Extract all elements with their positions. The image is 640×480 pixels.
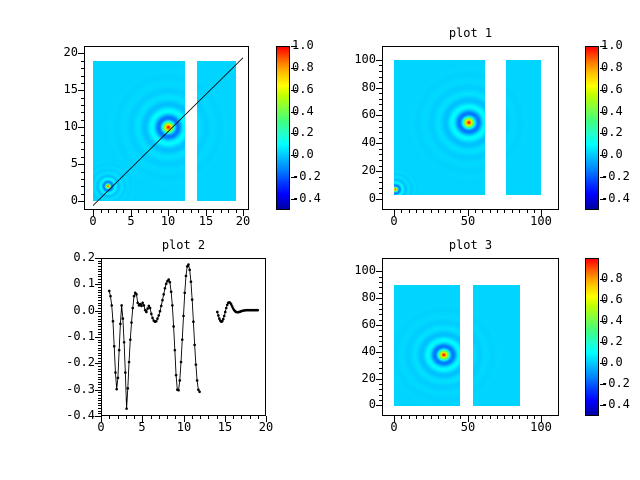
bottom-left-lineplot-xtick-minor [151,416,152,419]
data-point-marker [130,321,133,324]
data-point-marker [156,317,159,320]
bottom-left-lineplot-ytick-minor [98,303,101,304]
data-point-marker [122,317,125,320]
bottom-left-lineplot-ytick-minor [98,287,101,288]
bottom-right-heatmap-ytick-minor [379,320,382,321]
bottom-left-lineplot-xtick-minor [159,416,160,419]
bottom-left-lineplot-xtick-minor [258,416,259,419]
top-left-heatmap-ytick-minor [81,201,84,202]
data-point-marker [113,345,116,348]
bottom-right-heatmap-ytick-minor [379,395,382,396]
top-right-heatmap-ytick-minor [379,110,382,111]
top-left-heatmap-ytick-minor [81,68,84,69]
top-right-heatmap-xtick-minor [394,210,395,213]
top-right-heatmap-colorbar-ticklabel: 0.2 [601,125,640,139]
data-point-marker [256,309,259,312]
bottom-left-lineplot-ytick-minor [98,258,101,259]
bottom-left-lineplot-ytick-minor [98,371,101,372]
top-right-heatmap-xticklabel: 100 [515,214,567,228]
top-right-heatmap-xtick-minor [541,210,542,213]
top-right-heatmap-ytick-minor [379,160,382,161]
data-point-marker [181,338,184,341]
data-point-marker [191,298,194,301]
data-point-marker [118,349,121,352]
bottom-left-lineplot-xtick-minor [109,416,110,419]
bottom-right-heatmap-xtick-minor [541,416,542,419]
top-left-heatmap-xtick-minor [213,210,214,213]
data-point-marker [128,361,131,364]
data-point-marker [161,299,164,302]
bottom-left-lineplot-ytick-minor [98,266,101,267]
bottom-left-lineplot-ytick-minor [98,321,101,322]
data-point-marker [169,281,172,284]
bottom-left-lineplot-yticklabel: -0.2 [35,355,95,369]
bottom-right-heatmap-colorbar [585,258,599,416]
top-left-heatmap-ytick-minor [81,112,84,113]
top-right-heatmap-xticklabel: 50 [442,214,494,228]
top-right-heatmap-xtick-minor [431,210,432,213]
top-right-heatmap-ytick-minor [379,99,382,100]
bottom-right-heatmap-ytick-minor [379,346,382,347]
bottom-left-lineplot-xtick-minor [225,416,226,419]
bottom-right-heatmap-title: plot 3 [382,238,559,252]
bottom-left-lineplot-ytick-minor [98,340,101,341]
top-left-heatmap-xtick-minor [176,210,177,213]
top-right-heatmap-colorbar-ticklabel: 0.8 [601,60,640,74]
bottom-left-lineplot-ytick-minor [98,284,101,285]
top-right-heatmap-ytick-minor [379,71,382,72]
bottom-left-lineplot-ytick-minor [98,353,101,354]
bottom-left-lineplot-xtick-minor [208,416,209,419]
bottom-left-lineplot-ytick-minor [98,355,101,356]
bottom-left-lineplot-ytick-minor [98,390,101,391]
bottom-left-lineplot-ytick-minor [98,329,101,330]
bottom-right-heatmap-colorbar-ticklabel: -0.4 [601,397,640,411]
top-left-heatmap-colorbar [276,46,290,210]
bottom-right-heatmap-xtick-minor [497,416,498,419]
data-point-marker [136,301,139,304]
bottom-right-heatmap-yticklabel: 80 [316,290,376,304]
bottom-left-lineplot-xtick-minor [192,416,193,419]
data-point-marker [224,311,227,314]
top-right-heatmap-colorbar-ticklabel: 0.0 [601,147,640,161]
bottom-right-heatmap-ytick-minor [379,362,382,363]
data-point-marker [117,377,120,380]
heatmap-raster [506,60,541,195]
bottom-left-lineplot-ytick-minor [98,342,101,343]
data-point-marker [165,283,168,286]
top-left-heatmap-ytick-minor [81,127,84,128]
top-right-heatmap-xtick-minor [490,210,491,213]
bottom-left-lineplot-ytick-minor [98,276,101,277]
bottom-left-lineplot-ytick-minor [98,382,101,383]
data-point-marker [190,280,193,283]
bottom-left-lineplot-ytick-minor [98,263,101,264]
bottom-right-heatmap-ytick-minor [379,287,382,288]
bottom-right-heatmap-xtick-minor [445,416,446,419]
data-point-marker [175,374,178,377]
bottom-right-heatmap-xtick-minor [527,416,528,419]
top-left-heatmap-xtick-minor [131,210,132,213]
bottom-right-heatmap-xtick-minor [401,416,402,419]
data-point-marker [123,341,126,344]
bottom-left-lineplot-ytick-minor [98,405,101,406]
data-point-marker [178,379,181,382]
data-point-marker [167,278,170,281]
bottom-left-lineplot-ytick-minor [98,348,101,349]
top-right-heatmap-colorbar-ticklabel: -0.2 [601,169,640,183]
top-left-heatmap-xtick-minor [138,210,139,213]
data-point-marker [162,293,165,296]
data-point-marker [112,320,115,323]
top-left-heatmap-ytick-minor [81,135,84,136]
data-point-marker [150,313,153,316]
bottom-right-heatmap-xtick-minor [534,416,535,419]
top-right-heatmap-yticklabel: 80 [316,80,376,94]
top-right-heatmap-title: plot 1 [382,26,559,40]
top-left-heatmap-ytick-minor [81,90,84,91]
top-right-heatmap-xtick-minor [482,210,483,213]
data-point-marker [216,311,219,314]
top-right-heatmap-xtick-minor [475,210,476,213]
top-left-heatmap-xtick-minor [93,210,94,213]
bottom-left-lineplot-ytick-minor [98,400,101,401]
bottom-left-lineplot-ytick-minor [98,332,101,333]
top-right-heatmap-patch [394,60,485,195]
top-right-heatmap-xtick-minor [497,210,498,213]
top-left-heatmap-xtick-minor [108,210,109,213]
bottom-left-lineplot-xtick-minor [126,416,127,419]
top-right-heatmap-ytick-minor [379,199,382,200]
bottom-left-lineplot-ytick-minor [98,279,101,280]
top-left-heatmap-yticklabel: 5 [18,156,78,170]
bottom-left-lineplot-ytick-minor [98,345,101,346]
bottom-right-heatmap-ytick-minor [379,271,382,272]
top-left-heatmap-xtick-minor [228,210,229,213]
bottom-right-heatmap-xtick-minor [438,416,439,419]
bottom-left-lineplot-ytick-minor [98,361,101,362]
top-right-heatmap-yticklabel: 0 [316,191,376,205]
top-left-heatmap-xtick-minor [183,210,184,213]
bottom-right-heatmap-yticklabel: 100 [316,263,376,277]
top-right-heatmap-ytick-minor [379,121,382,122]
bottom-right-heatmap-yticklabel: 40 [316,344,376,358]
heatmap-raster [394,60,485,195]
top-left-heatmap-ytick-minor [81,149,84,150]
bottom-left-lineplot-yticklabel: 0.1 [35,276,95,290]
data-point-marker [159,310,162,313]
bottom-right-heatmap-ytick-minor [379,379,382,380]
top-right-heatmap-yticklabel: 100 [316,52,376,66]
data-point-marker [192,320,195,323]
bottom-right-heatmap-colorbar-ticklabel: -0.2 [601,376,640,390]
bottom-left-lineplot-xtick-minor [250,416,251,419]
top-right-heatmap-xtick-minor [460,210,461,213]
top-right-heatmap-xtick-minor [504,210,505,213]
top-right-heatmap-ytick-minor [379,166,382,167]
top-left-heatmap-ytick-minor [81,98,84,99]
bottom-left-lineplot-ytick-minor [98,313,101,314]
bottom-left-lineplot-xtick-minor [200,416,201,419]
top-right-heatmap-yticklabel: 60 [316,107,376,121]
top-left-heatmap-ytick-minor [81,61,84,62]
bottom-left-lineplot-xtick-minor [217,416,218,419]
bottom-left-lineplot-ytick-minor [98,366,101,367]
top-left-heatmap-ytick-minor [81,53,84,54]
top-left-heatmap-ytick-minor [81,172,84,173]
data-point-marker [171,304,174,307]
top-left-heatmap-xtick-minor [236,210,237,213]
bottom-right-heatmap-xtick-minor [453,416,454,419]
data-point-marker [157,314,160,317]
top-right-heatmap-ytick-minor [379,193,382,194]
bottom-left-lineplot-ytick-minor [98,334,101,335]
bottom-right-heatmap-colorbar-ticklabel: 0.2 [601,334,640,348]
data-point-marker [129,338,132,341]
top-left-heatmap-ytick-minor [81,120,84,121]
data-point-marker [177,389,180,392]
data-point-marker [124,371,127,374]
top-right-heatmap-xtick-minor [438,210,439,213]
bottom-left-lineplot-ytick-minor [98,297,101,298]
bottom-left-lineplot-xtick-minor [167,416,168,419]
top-right-heatmap-xtick-minor [445,210,446,213]
data-point-marker [110,304,113,307]
bottom-left-lineplot-ytick-minor [98,311,101,312]
data-point-marker [135,293,138,296]
bottom-left-lineplot-xtick-minor [134,416,135,419]
bottom-right-heatmap-patch [473,285,520,406]
bottom-left-lineplot-ytick-minor [98,290,101,291]
bottom-right-heatmap-ytick-minor [379,309,382,310]
heatmap-raster [394,285,460,406]
bottom-left-lineplot-xtick-minor [142,416,143,419]
data-point-marker [188,269,191,272]
bottom-left-lineplot-xtick-minor [118,416,119,419]
bottom-right-heatmap-yticklabel: 0 [316,397,376,411]
data-point-marker [160,305,163,308]
top-left-heatmap-diagonal-line [85,47,248,209]
top-right-heatmap-ytick-minor [379,88,382,89]
top-left-heatmap-xtick-minor [243,210,244,213]
top-left-heatmap-yticklabel: 15 [18,82,78,96]
bottom-left-lineplot-ytick-minor [98,379,101,380]
bottom-left-lineplot-ytick-minor [98,350,101,351]
top-left-heatmap-ytick-minor [81,105,84,106]
top-left-heatmap-colorbar-ticklabel: 0.0 [292,147,338,161]
bottom-right-heatmap-xtick-minor [475,416,476,419]
data-point-marker [127,387,130,390]
bottom-right-heatmap-yticklabel: 60 [316,317,376,331]
data-point-marker [195,363,198,366]
top-right-heatmap-xticklabel: 0 [368,214,420,228]
bottom-right-heatmap-ytick-minor [379,368,382,369]
data-point-marker [180,361,183,364]
bottom-right-heatmap-ytick-minor [379,293,382,294]
top-left-heatmap-xtick-minor [153,210,154,213]
bottom-right-heatmap-colorbar-ticklabel: 0.8 [601,271,640,285]
top-left-heatmap-ytick-minor [81,142,84,143]
top-left-heatmap-ytick-minor [81,76,84,77]
top-right-heatmap-ytick-minor [379,60,382,61]
top-right-heatmap-ytick-minor [379,65,382,66]
data-point-marker [217,314,220,317]
data-point-marker [170,290,173,293]
data-point-marker [109,295,112,298]
data-point-marker [143,304,146,307]
top-left-heatmap-xtick-minor [116,210,117,213]
bottom-left-lineplot-ytick-minor [98,411,101,412]
bottom-left-lineplot-ytick-minor [98,337,101,338]
bottom-left-lineplot-ytick-minor [98,292,101,293]
bottom-right-heatmap-xtick-minor [519,416,520,419]
top-left-heatmap-xtick-minor [221,210,222,213]
bottom-right-heatmap-ytick-minor [379,373,382,374]
top-left-heatmap-ytick-minor [81,164,84,165]
bottom-left-lineplot-yticklabel: -0.1 [35,329,95,343]
bottom-left-lineplot-ytick-minor [98,305,101,306]
bottom-right-heatmap-xtick-minor [416,416,417,419]
bottom-right-heatmap-xtick-minor [423,416,424,419]
bottom-right-heatmap-xtick-minor [460,416,461,419]
bottom-right-heatmap-ytick-minor [379,330,382,331]
top-left-heatmap-colorbar-ticklabel: 1.0 [292,38,338,52]
data-point-marker [187,263,190,266]
top-right-heatmap-xtick-minor [401,210,402,213]
bottom-left-lineplot-xtick-minor [266,416,267,419]
bottom-left-lineplot-ytick-minor [98,316,101,317]
top-left-heatmap-ytick-minor [81,157,84,158]
top-right-heatmap-ytick-minor [379,138,382,139]
top-right-heatmap-ytick-minor [379,154,382,155]
bottom-left-lineplot-xtick-minor [101,416,102,419]
top-right-heatmap-xtick-minor [534,210,535,213]
bottom-right-heatmap-ytick-minor [379,282,382,283]
bottom-right-heatmap-ytick-minor [379,357,382,358]
data-point-marker [146,307,149,310]
bottom-left-lineplot-xtick-minor [233,416,234,419]
top-left-heatmap-ytick-minor [81,186,84,187]
top-right-heatmap-ytick-minor [379,132,382,133]
bottom-right-heatmap-ytick-minor [379,389,382,390]
top-right-heatmap-xtick-minor [416,210,417,213]
data-point-marker [141,301,144,304]
data-point-marker [149,307,152,310]
data-point-marker [198,390,201,393]
data-point-marker [222,318,225,321]
bottom-right-heatmap-ytick-minor [379,341,382,342]
top-right-heatmap-xtick-minor [468,210,469,213]
bottom-left-lineplot-ytick-minor [98,319,101,320]
top-right-heatmap-ytick-minor [379,115,382,116]
bottom-right-heatmap-ytick-minor [379,304,382,305]
bottom-left-lineplot-ytick-minor [98,300,101,301]
top-right-heatmap-xtick-minor [519,210,520,213]
bottom-left-lineplot-ytick-minor [98,408,101,409]
top-right-heatmap-ytick-minor [379,171,382,172]
data-point-marker [151,317,154,320]
top-right-heatmap-colorbar-ticklabel: 0.6 [601,82,640,96]
bottom-right-heatmap-ytick-minor [379,314,382,315]
line-path [109,265,199,409]
bottom-right-heatmap-ytick-minor [379,298,382,299]
data-point-marker [133,295,136,298]
data-point-marker [182,315,185,318]
top-left-heatmap-xtick-minor [206,210,207,213]
data-point-marker [114,371,117,374]
heatmap-raster [473,285,520,406]
bottom-left-lineplot-ytick-minor [98,269,101,270]
bottom-left-lineplot-ytick-minor [98,282,101,283]
bottom-left-lineplot-yticklabel: -0.4 [35,408,95,422]
top-right-heatmap-ytick-minor [379,177,382,178]
bottom-left-lineplot-ytick-minor [98,324,101,325]
top-right-heatmap-ytick-minor [379,93,382,94]
data-point-marker [108,290,111,293]
bottom-left-lineplot-ytick-minor [98,274,101,275]
bottom-left-lineplot-yticklabel: 0.2 [35,250,95,264]
data-point-marker [125,407,128,410]
top-right-heatmap-ytick-minor [379,188,382,189]
top-left-heatmap-ytick-minor [81,194,84,195]
bottom-left-lineplot-ytick-minor [98,403,101,404]
bottom-right-heatmap-xtick-minor [431,416,432,419]
bottom-left-lineplot-ytick-minor [98,295,101,296]
top-right-heatmap-ytick-minor [379,104,382,105]
data-point-marker [119,323,122,326]
top-right-heatmap-xtick-minor [409,210,410,213]
bottom-right-heatmap-ytick-minor [379,277,382,278]
top-right-heatmap-patch [506,60,541,195]
top-right-heatmap-ytick-minor [379,127,382,128]
top-right-heatmap-ytick-minor [379,182,382,183]
bottom-left-lineplot-ytick-minor [98,271,101,272]
data-point-marker [196,379,199,382]
bottom-right-heatmap-xticklabel: 100 [515,420,567,434]
top-left-heatmap-yticklabel: 10 [18,119,78,133]
data-point-marker [120,304,123,307]
data-point-marker [115,388,118,391]
bottom-right-heatmap-xtick-minor [504,416,505,419]
data-point-marker [131,307,134,310]
bottom-right-heatmap-ytick-minor [379,400,382,401]
data-point-marker [155,320,158,323]
top-left-heatmap-xtick-minor [101,210,102,213]
bottom-right-heatmap-patch [394,285,460,406]
bottom-left-lineplot-ytick-minor [98,413,101,414]
bottom-left-lineplot-ytick-minor [98,398,101,399]
bottom-left-lineplot-ytick-minor [98,308,101,309]
top-left-heatmap-xtick-minor [146,210,147,213]
bottom-right-heatmap-xtick-minor [512,416,513,419]
bottom-left-lineplot-ytick-minor [98,261,101,262]
data-point-marker [193,344,196,347]
top-right-heatmap-ytick-minor [379,77,382,78]
bottom-left-lineplot-ytick-minor [98,358,101,359]
bottom-left-lineplot-ytick-minor [98,387,101,388]
bottom-right-heatmap-xtick-minor [490,416,491,419]
top-right-heatmap-xtick-minor [527,210,528,213]
bottom-right-heatmap-xtick-minor [394,416,395,419]
bottom-left-lineplot-yticklabel: -0.3 [35,382,95,396]
bottom-right-heatmap-ytick-minor [379,405,382,406]
top-right-heatmap-yticklabel: 40 [316,135,376,149]
top-right-heatmap-ytick-minor [379,149,382,150]
data-point-marker [225,307,228,310]
bottom-left-lineplot-ytick-minor [98,363,101,364]
bottom-right-heatmap-yticklabel: 20 [316,371,376,385]
bottom-left-lineplot-xtick-minor [184,416,185,419]
